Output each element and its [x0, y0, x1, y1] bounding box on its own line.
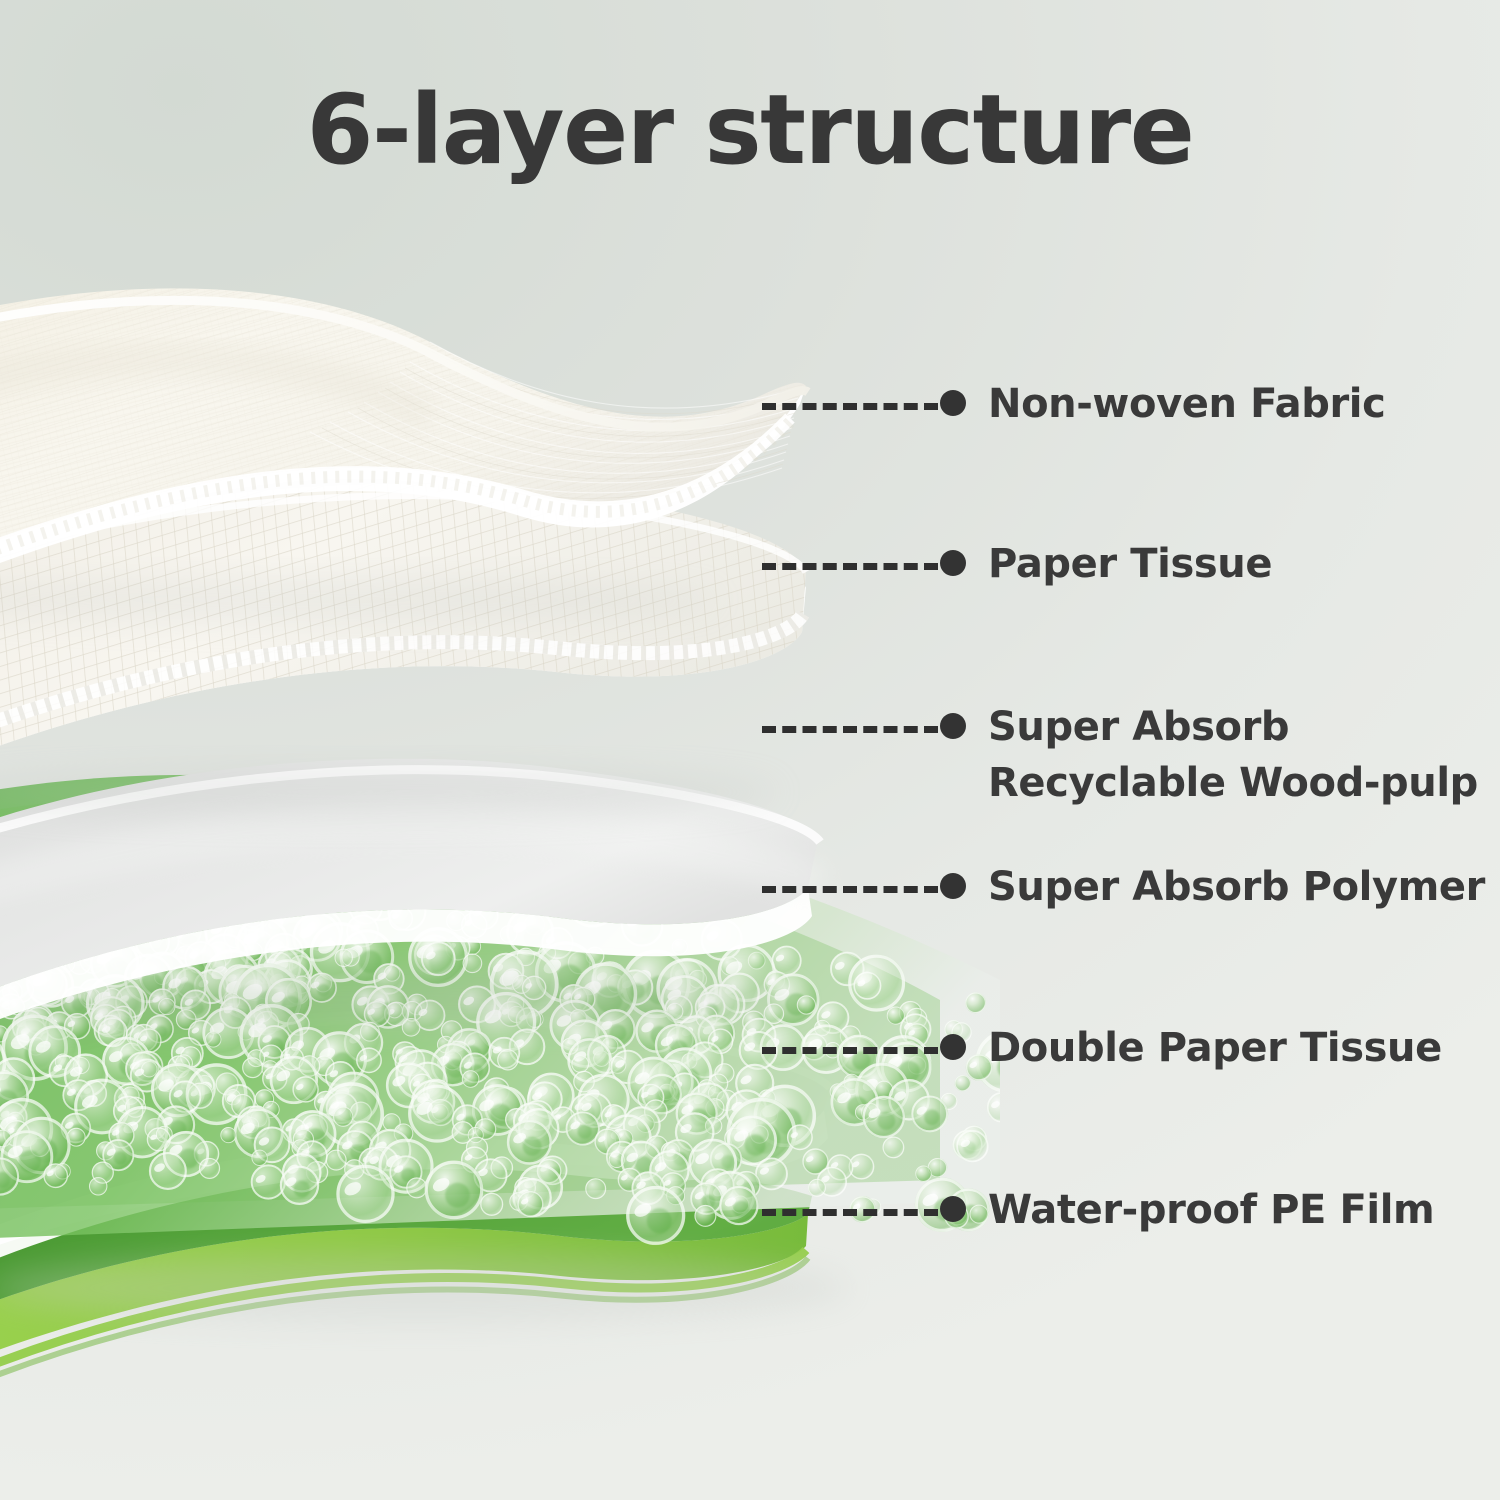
leader-line-6 — [762, 1209, 938, 1216]
leader-dot-5 — [940, 1034, 966, 1060]
leader-line-1 — [762, 403, 938, 410]
callout-label-pe-film: Water-proof PE Film — [988, 1182, 1434, 1238]
leader-dot-2 — [940, 550, 966, 576]
callout-label-polymer: Super Absorb Polymer — [988, 859, 1485, 915]
callout-label-double-paper-tissue: Double Paper Tissue — [988, 1020, 1442, 1076]
callout-label-non-woven-fabric: Non-woven Fabric — [988, 376, 1385, 432]
callout-label-paper-tissue: Paper Tissue — [988, 536, 1272, 592]
leader-dot-3 — [940, 713, 966, 739]
layer-structure-infographic: 6-layer structure Non-woven Fabric Paper… — [0, 0, 1500, 1500]
layer-paper-tissue — [0, 484, 806, 818]
leader-line-4 — [762, 886, 938, 893]
leader-dot-6 — [940, 1196, 966, 1222]
leader-line-5 — [762, 1047, 938, 1054]
leader-dot-4 — [940, 873, 966, 899]
leader-line-2 — [762, 563, 938, 570]
leader-line-3 — [762, 726, 938, 733]
page-title: 6-layer structure — [0, 78, 1500, 182]
callout-label-wood-pulp: Super Absorb Recyclable Wood-pulp — [988, 699, 1478, 811]
leader-dot-1 — [940, 390, 966, 416]
